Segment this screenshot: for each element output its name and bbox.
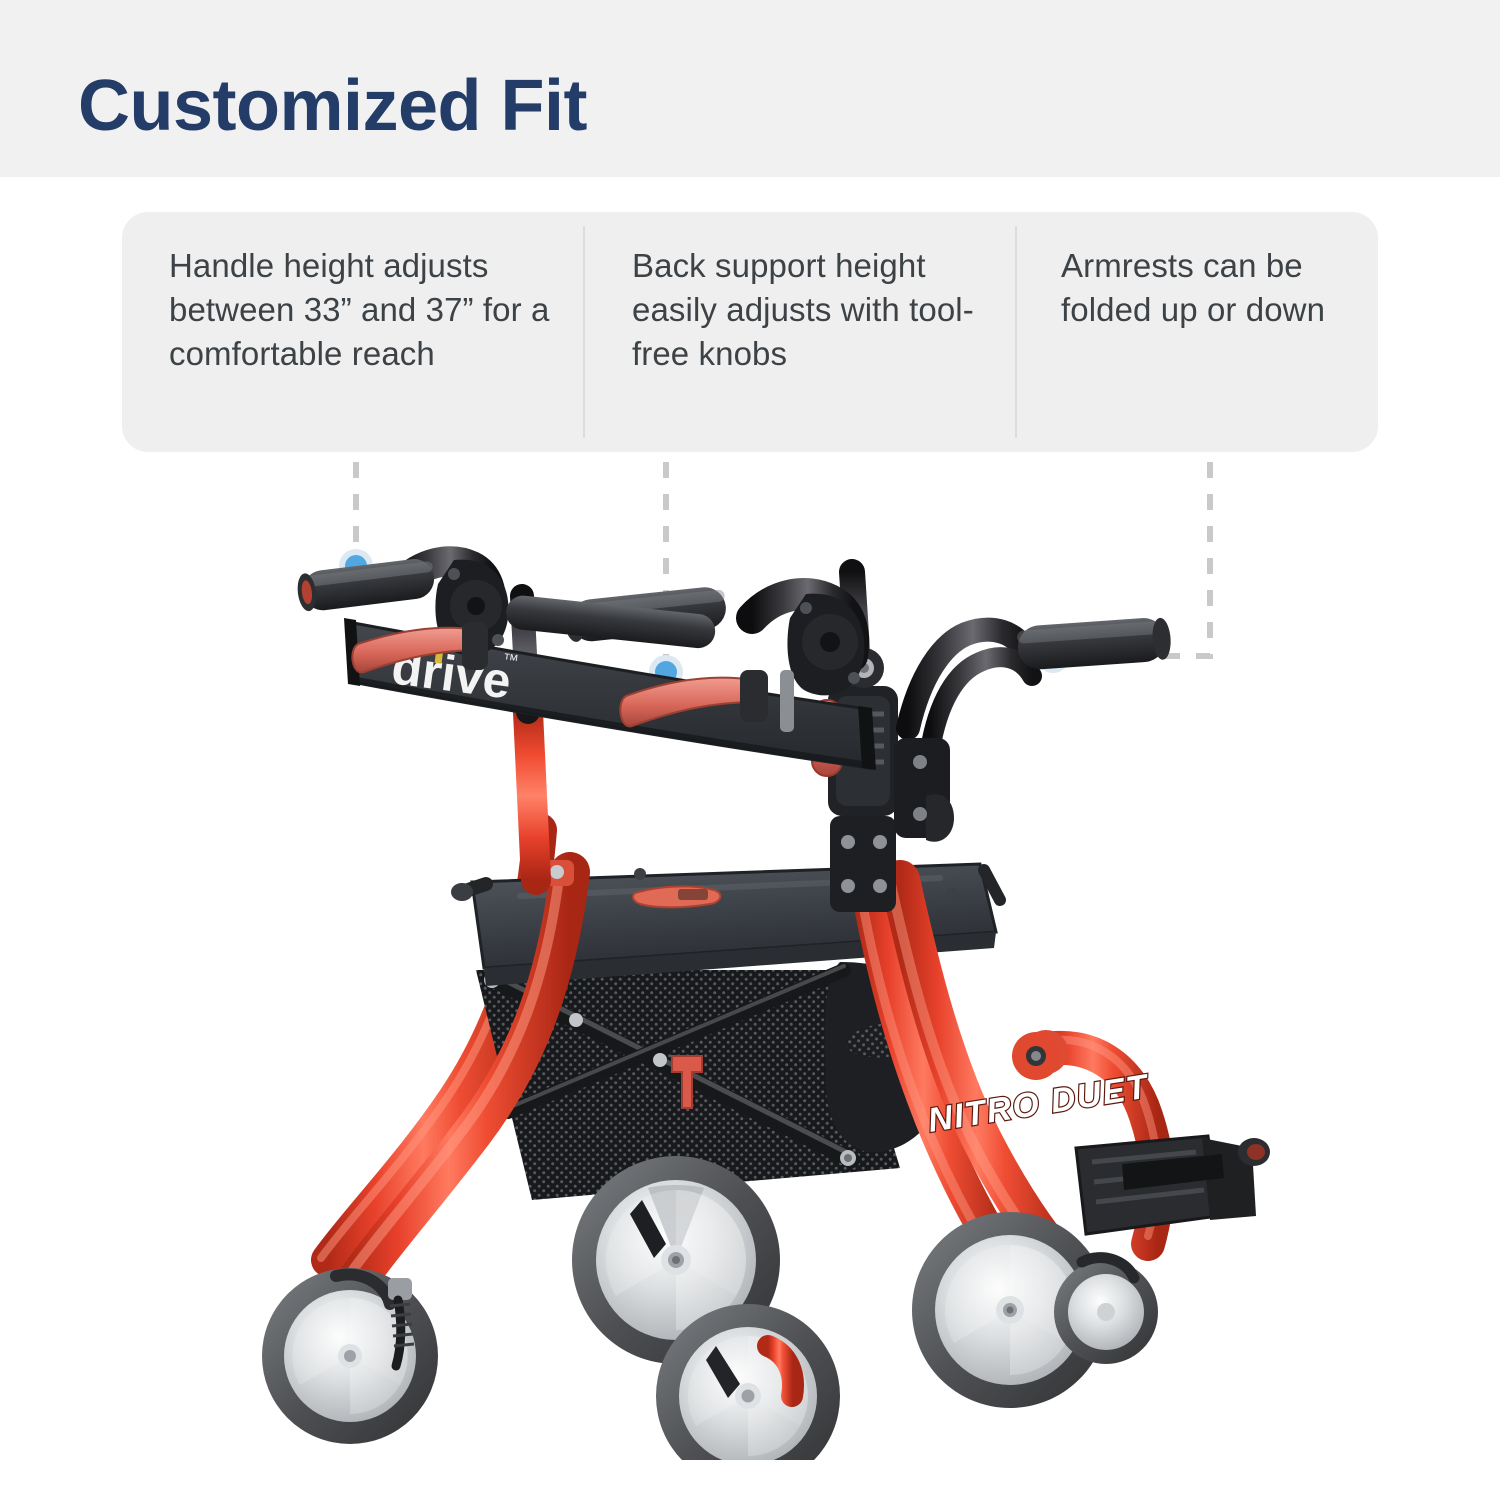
caption-column-armrests: Armrests can be folded up or down <box>1015 212 1378 332</box>
column-divider-2 <box>1015 226 1017 438</box>
handle-left <box>295 557 508 673</box>
armrest-right <box>894 616 1172 842</box>
infographic-canvas: Customized Fit Handle height adjusts bet… <box>0 0 1500 1500</box>
caption-text-back-support: Back support height easily adjusts with … <box>632 244 993 376</box>
caption-text-armrests: Armrests can be folded up or down <box>1061 244 1358 332</box>
caption-columns: Handle height adjusts between 33” and 37… <box>122 212 1378 452</box>
frame-joint-right <box>1012 1032 1060 1080</box>
product-image-nitro-duet-rollator: drive ™ <box>240 500 1300 1460</box>
caption-column-back-support: Back support height easily adjusts with … <box>583 212 1015 376</box>
column-divider-1 <box>583 226 585 438</box>
footrest <box>1076 1136 1270 1234</box>
svg-text:™: ™ <box>501 651 519 670</box>
caption-column-handle-height: Handle height adjusts between 33” and 37… <box>122 212 583 376</box>
caption-panel: Handle height adjusts between 33” and 37… <box>122 212 1378 452</box>
page-title: Customized Fit <box>78 70 587 142</box>
wheel-front-left-caster <box>262 1268 438 1444</box>
caption-text-handle-height: Handle height adjusts between 33” and 37… <box>169 244 561 376</box>
